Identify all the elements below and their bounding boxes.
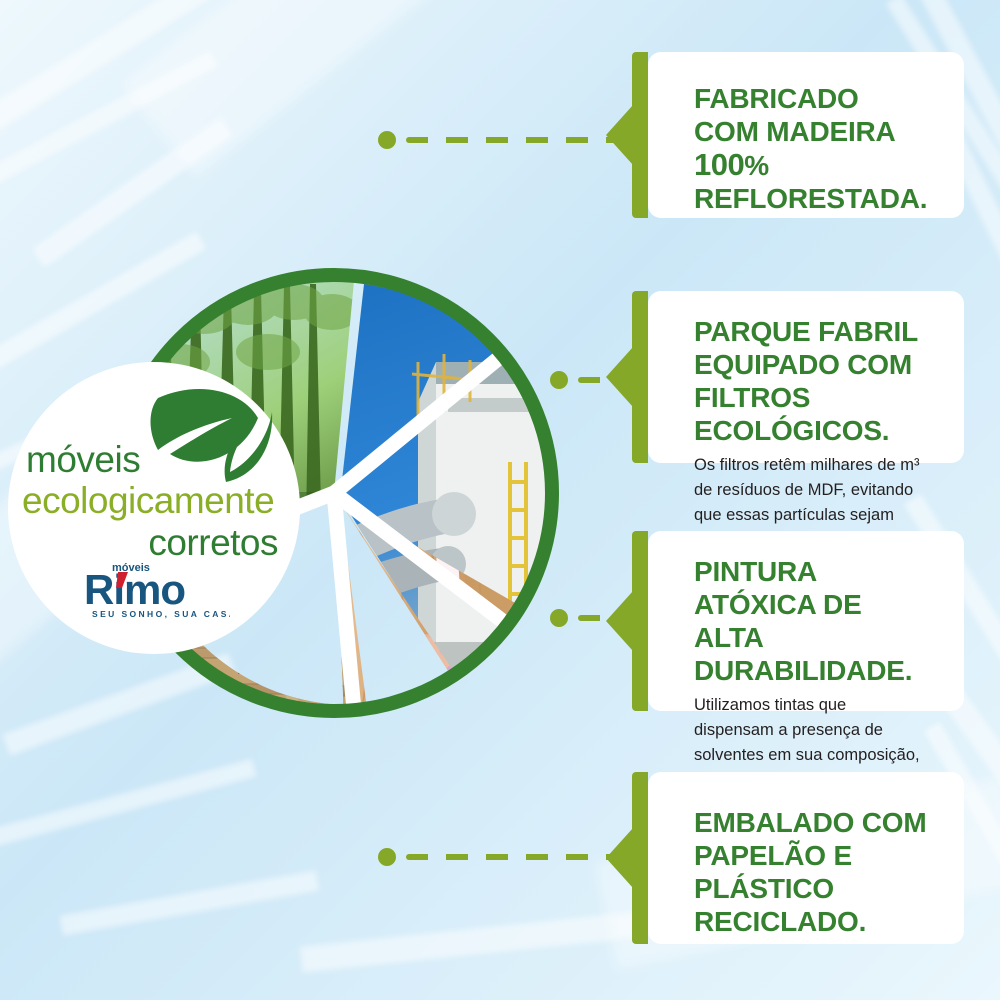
card-pintura-atoxica[interactable]: PINTURA ATÓXICA DE ALTA DURABILIDADE. Ut… <box>648 531 964 711</box>
connector-dash-1 <box>406 137 626 143</box>
badge-slogan: móveis ecologicamente corretos <box>8 440 300 564</box>
svg-text:Rimo: Rimo <box>148 776 177 787</box>
infographic-canvas: Rimo Rimo Rimo Rimo Rimo Rimo Rimo Rimo … <box>0 0 1000 1000</box>
card-filtros-ecologicos[interactable]: PARQUE FABRIL EQUIPADO COM FILTROS ECOLÓ… <box>648 291 964 463</box>
svg-text:Rimo: Rimo <box>304 637 333 648</box>
connector-line-4 <box>378 852 628 862</box>
card-heading-2: PARQUE FABRIL EQUIPADO COM FILTROS ECOLÓ… <box>694 315 930 447</box>
svg-text:Rimo: Rimo <box>148 704 177 715</box>
svg-text:Rimo: Rimo <box>148 668 177 679</box>
card-heading-4: EMBALADO COM PAPELÃO E PLÁSTICO RECICLAD… <box>694 806 930 938</box>
svg-text:Rimo: Rimo <box>148 740 177 751</box>
card-heading-1: FABRICADO COM MADEIRA 100% REFLORESTADA. <box>694 82 930 215</box>
connector-line-1 <box>378 135 628 145</box>
card-madeira-reflorestada[interactable]: FABRICADO COM MADEIRA 100% REFLORESTADA. <box>648 52 964 218</box>
card-tab-3 <box>632 531 648 711</box>
card-heading-1-highlight: 100 <box>694 147 744 182</box>
rimo-logo-wordmark: Rimo <box>84 566 185 613</box>
connector-dot-2 <box>550 371 568 389</box>
card-tab-1 <box>632 52 648 218</box>
rimo-logo-tagline: SEU SONHO, SUA CASA <box>92 609 230 619</box>
card-tab-4 <box>632 772 648 944</box>
eco-logo-badge: móveis ecologicamente corretos móveis Ri… <box>8 362 300 654</box>
badge-line-2: ecologicamente <box>8 480 286 522</box>
svg-text:Rimo: Rimo <box>304 671 333 682</box>
badge-line-1: móveis <box>8 440 286 480</box>
svg-text:Rimo: Rimo <box>148 812 177 823</box>
connector-dot-1 <box>378 131 396 149</box>
connector-dot-3 <box>550 609 568 627</box>
rimo-logo: móveis Rimo SEU SONHO, SUA CASA <box>8 558 300 625</box>
connector-dash-4 <box>406 854 626 860</box>
connector-dot-4 <box>378 848 396 866</box>
card-heading-3: PINTURA ATÓXICA DE ALTA DURABILIDADE. <box>694 555 930 687</box>
card-tab-2 <box>632 291 648 463</box>
card-heading-1-pre: FABRICADO COM MADEIRA <box>694 83 895 147</box>
card-embalagem-reciclada[interactable]: EMBALADO COM PAPELÃO E PLÁSTICO RECICLAD… <box>648 772 964 944</box>
